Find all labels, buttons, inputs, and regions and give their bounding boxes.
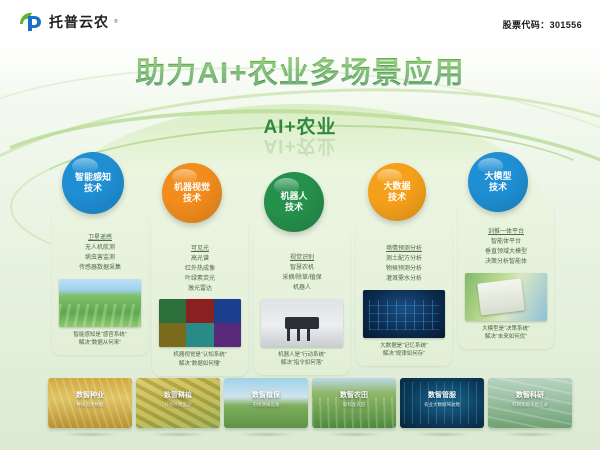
pillar-thumbnail	[465, 273, 547, 321]
keyword-item: 智慧农机	[259, 264, 345, 274]
caption-line-2: 解决“指令如何落”	[259, 359, 345, 368]
scene-tile-shadow	[500, 432, 560, 437]
keyword-item: 高光谱	[157, 255, 243, 265]
pillar-thumbnail	[59, 279, 141, 327]
scene-tile[interactable]: 数智植保虫情测报设备	[224, 378, 308, 428]
bubble-label-line-2: 技术	[183, 193, 201, 204]
keyword-item: 墒情预测分析	[361, 245, 447, 255]
keyword-item: 智能体平台	[463, 238, 549, 248]
bubble-label-line-1: 机器人	[280, 191, 307, 202]
keyword-list: 墒情预测分析测土配方分析物候预测分析灌溉需水分析	[361, 245, 447, 285]
pillar-column-2: 可见光高光谱红外热成像叶绿素荧光激光雷达机器视觉是“认知系统”解决“数据如何懂”	[152, 219, 248, 376]
pillar-thumbnail	[261, 299, 343, 347]
keyword-item: 测土配方分析	[361, 255, 447, 265]
brand-name: 托普云农	[49, 12, 109, 32]
keyword-item: 垂直领域大模型	[463, 248, 549, 258]
keyword-list: 训推一体平台智能体平台垂直领域大模型决策分析智能体	[463, 228, 549, 268]
poster-header: 托普云农 ® 股票代码：301556	[0, 0, 600, 44]
scene-subtitle: 作物长势监测	[136, 402, 220, 408]
scene-tile[interactable]: 数智农田高标准农田	[312, 378, 396, 428]
scene-tile-shadow	[412, 432, 472, 437]
scene-subtitle: 种质资源数据	[48, 402, 132, 408]
pillar-card[interactable]: 可见光高光谱红外热成像叶绿素荧光激光雷达机器视觉是“认知系统”解决“数据如何懂”	[152, 219, 248, 376]
caption-line-1: 智能感知是“感官系统”	[57, 331, 143, 340]
caption-line-1: 大模型是“决策系统”	[463, 325, 549, 334]
scene-title: 数智耕植	[136, 390, 220, 400]
keyword-item: 可见光	[157, 245, 243, 255]
scene-subtitle: 科研实验平板记录	[488, 402, 572, 408]
scene-subtitle: 虫情测报设备	[224, 402, 308, 408]
caption-line-1: 机器人是“行动系统”	[259, 351, 345, 360]
keyword-item: 视觉识别	[259, 254, 345, 264]
caption-line-1: 机器视觉是“认知系统”	[157, 351, 243, 360]
pillar-column-3: 视觉识别智慧农机采摘/除草/植保机器人机器人是“行动系统”解决“指令如何落”	[254, 228, 350, 375]
pillar-bubble[interactable]: 机器人技术	[264, 172, 324, 232]
scene-tile-shadow	[324, 432, 384, 437]
pillar-column-1: 卫星遥感无人机航测病虫害监测传感器数据采集智能感知是“感官系统”解决“数据从何来…	[52, 208, 148, 355]
keyword-list: 卫星遥感无人机航测病虫害监测传感器数据采集	[57, 234, 143, 274]
pillar-column-4: 墒情预测分析测土配方分析物候预测分析灌溉需水分析大数据是“记忆系统”解决“规律如…	[356, 219, 452, 366]
pillar-caption: 机器视觉是“认知系统”解决“数据如何懂”	[157, 351, 243, 369]
pillar-column-5: 训推一体平台智能体平台垂直领域大模型决策分析智能体大模型是“决策系统”解决“未来…	[458, 202, 554, 349]
scene-tile-shadow	[60, 432, 120, 437]
pillar-thumbnail	[363, 290, 445, 338]
pillar-caption: 大数据是“记忆系统”解决“规律如何存”	[361, 342, 447, 360]
bubble-label-line-1: 大数据	[383, 181, 410, 192]
keyword-item: 灌溉需水分析	[361, 275, 447, 285]
keyword-item: 无人机航测	[57, 244, 143, 254]
keyword-list: 视觉识别智慧农机采摘/除草/植保机器人	[259, 254, 345, 294]
bubble-label-line-1: 机器视觉	[174, 182, 210, 193]
caption-line-2: 解决“未来如何优”	[463, 333, 549, 342]
poster-canvas: 托普云农 ® 股票代码：301556 助力AI+农业多场景应用 AI+农业 AI…	[0, 0, 600, 450]
scene-tile-shadow	[236, 432, 296, 437]
pillar-caption: 大模型是“决策系统”解决“未来如何优”	[463, 325, 549, 343]
scene-tile[interactable]: 数智管服农业大数据驾驶舱	[400, 378, 484, 428]
keyword-item: 机器人	[259, 284, 345, 294]
caption-line-2: 解决“数据如何懂”	[157, 360, 243, 369]
keyword-item: 卫星遥感	[57, 234, 143, 244]
stock-code: 股票代码：301556	[503, 18, 582, 31]
topcloud-logo-icon	[18, 10, 44, 34]
bubble-label-line-2: 技术	[84, 183, 102, 194]
scene-tile[interactable]: 数智耕植作物长势监测	[136, 378, 220, 428]
pillar-bubble[interactable]: 智能感知技术	[62, 152, 124, 214]
registered-mark: ®	[114, 19, 118, 25]
scene-subtitle: 农业大数据驾驶舱	[400, 402, 484, 408]
pillar-card[interactable]: 墒情预测分析测土配方分析物候预测分析灌溉需水分析大数据是“记忆系统”解决“规律如…	[356, 219, 452, 366]
page-title: 助力AI+农业多场景应用	[0, 48, 600, 92]
scene-tile[interactable]: 数智科研科研实验平板记录	[488, 378, 572, 428]
brand-logo: 托普云农 ®	[18, 10, 118, 34]
bubble-label-line-2: 技术	[285, 202, 303, 213]
keyword-item: 激光雷达	[157, 285, 243, 295]
scene-tile[interactable]: 数智种业种质资源数据	[48, 378, 132, 428]
scene-title: 数智植保	[224, 390, 308, 400]
pillar-bubble[interactable]: 大模型技术	[468, 152, 528, 212]
pillar-bubble[interactable]: 大数据技术	[368, 163, 426, 221]
scene-subtitle: 高标准农田	[312, 402, 396, 408]
caption-line-2: 解决“规律如何存”	[361, 350, 447, 359]
pillar-card[interactable]: 视觉识别智慧农机采摘/除草/植保机器人机器人是“行动系统”解决“指令如何落”	[254, 228, 350, 375]
scene-title: 数智农田	[312, 390, 396, 400]
pillar-card[interactable]: 训推一体平台智能体平台垂直领域大模型决策分析智能体大模型是“决策系统”解决“未来…	[458, 202, 554, 349]
bubble-label-line-2: 技术	[489, 182, 507, 193]
pillar-card[interactable]: 卫星遥感无人机航测病虫害监测传感器数据采集智能感知是“感官系统”解决“数据从何来…	[52, 208, 148, 355]
caption-line-1: 大数据是“记忆系统”	[361, 342, 447, 351]
keyword-item: 病虫害监测	[57, 254, 143, 264]
keyword-item: 叶绿素荧光	[157, 275, 243, 285]
scene-title: 数智科研	[488, 390, 572, 400]
scene-title: 数智种业	[48, 390, 132, 400]
keyword-item: 红外热成像	[157, 265, 243, 275]
pillar-bubble[interactable]: 机器视觉技术	[162, 163, 222, 223]
keyword-item: 传感器数据采集	[57, 264, 143, 274]
bubble-label-line-1: 智能感知	[75, 172, 111, 183]
bubble-label-line-1: 大模型	[484, 171, 511, 182]
pillar-caption: 智能感知是“感官系统”解决“数据从何来”	[57, 331, 143, 349]
scene-strip: 数智种业种质资源数据数智耕植作物长势监测数智植保虫情测报设备数智农田高标准农田数…	[0, 378, 600, 436]
keyword-list: 可见光高光谱红外热成像叶绿素荧光激光雷达	[157, 245, 243, 294]
scene-title: 数智管服	[400, 390, 484, 400]
pillar-caption: 机器人是“行动系统”解决“指令如何落”	[259, 351, 345, 369]
scene-tile-shadow	[148, 432, 208, 437]
keyword-item: 采摘/除草/植保	[259, 274, 345, 284]
pillar-thumbnail	[159, 299, 241, 347]
keyword-item: 训推一体平台	[463, 228, 549, 238]
keyword-item: 物候预测分析	[361, 265, 447, 275]
keyword-item: 决策分析智能体	[463, 258, 549, 268]
bubble-label-line-2: 技术	[388, 192, 406, 203]
caption-line-2: 解决“数据从何来”	[57, 339, 143, 348]
